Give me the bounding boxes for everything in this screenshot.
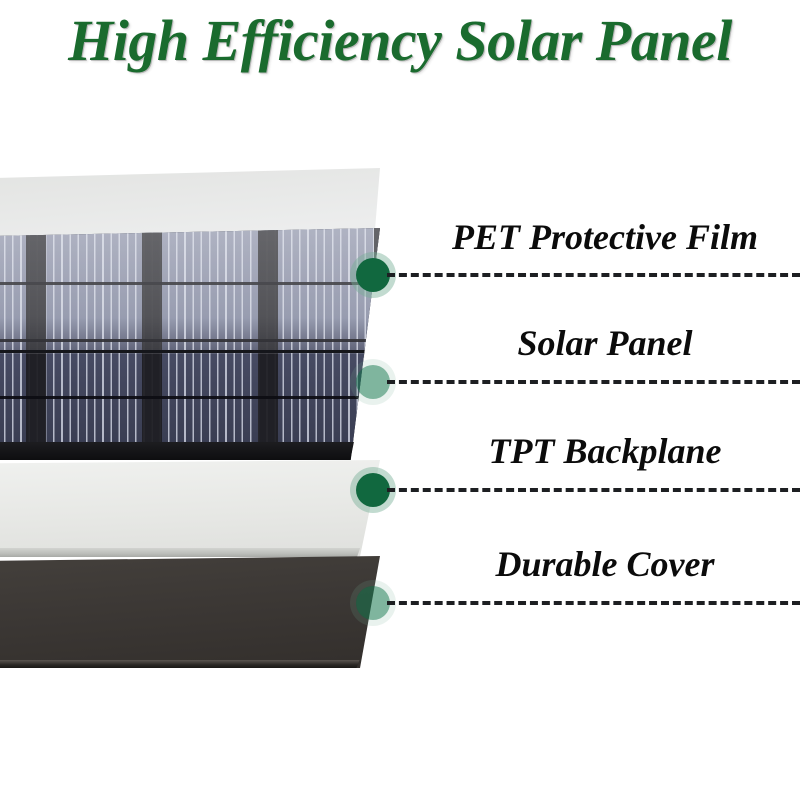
layer-solar-panel xyxy=(0,228,380,460)
callout-dashed-line xyxy=(387,273,800,277)
callout-dot-icon xyxy=(356,473,390,507)
callout-dot-icon xyxy=(356,586,390,620)
layer-durable-cover xyxy=(0,556,380,668)
callout-dot-icon xyxy=(356,365,390,399)
callout-label: Durable Cover xyxy=(496,543,715,585)
layer-solar-panel-frame xyxy=(0,442,380,460)
exploded-layer-diagram xyxy=(0,0,800,800)
layer-tpt-backplane xyxy=(0,460,380,556)
callout-label: TPT Backplane xyxy=(489,430,722,472)
callout-label: Solar Panel xyxy=(517,322,692,364)
callout-dashed-line xyxy=(387,601,800,605)
solar-panel-infographic: High Efficiency Solar Panel PET Protecti… xyxy=(0,0,800,800)
pet-film-bottom-edge-line xyxy=(0,350,380,353)
layer-durable-cover-edge xyxy=(0,660,380,668)
solar-cell-grid xyxy=(0,228,380,442)
callout-dashed-line xyxy=(387,488,800,492)
callout-label: PET Protective Film xyxy=(452,216,758,258)
layer-tpt-backplane-edge xyxy=(0,548,380,557)
callout-dashed-line xyxy=(387,380,800,384)
callout-dot-icon xyxy=(356,258,390,292)
